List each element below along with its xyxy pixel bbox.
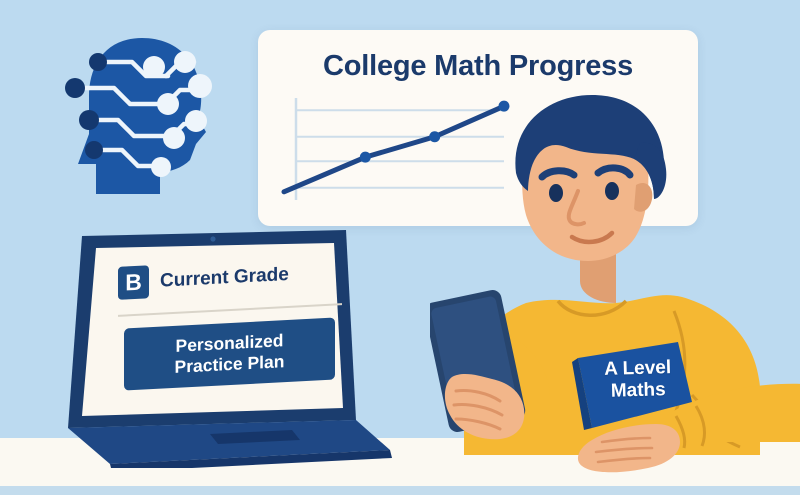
right-forearm [556, 380, 800, 490]
current-grade-label: Current Grade [160, 263, 289, 292]
book-title-line-1: A Level [585, 357, 690, 382]
cta-line-2: Practice Plan [175, 351, 285, 378]
current-grade-row: B Current Grade [118, 258, 289, 300]
page-title: College Math Progress [258, 50, 698, 83]
laptop-screen-content: B Current Grade Personalized Practice Pl… [104, 240, 356, 425]
personalized-practice-plan-button[interactable]: Personalized Practice Plan [124, 317, 335, 390]
screen-divider [118, 303, 342, 317]
chart-data-point [360, 152, 371, 163]
illustration-canvas: College Math Progress [0, 0, 800, 495]
grade-badge-icon: B [118, 265, 149, 300]
ai-brain-head-icon [48, 22, 238, 212]
